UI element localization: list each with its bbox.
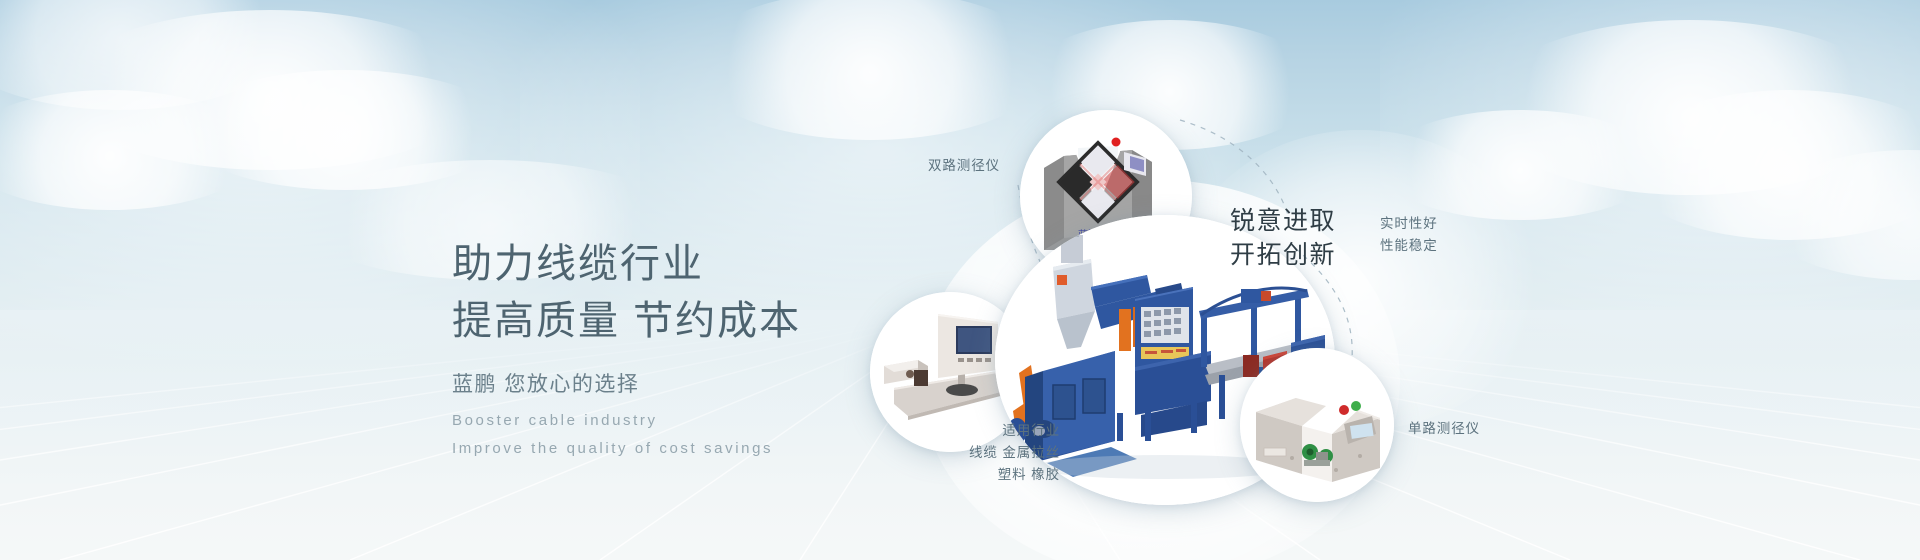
- label-dual-gauge-text: 双路测径仪: [790, 155, 1000, 177]
- bubble-single-gauge[interactable]: [1240, 348, 1394, 502]
- label-dual-gauge: 双路测径仪: [790, 155, 1000, 177]
- feature-line-1: 实时性好: [1380, 213, 1530, 235]
- product-composition: 蓝鹏测控: [880, 0, 1920, 560]
- cloud-1: [60, 10, 480, 170]
- slogan-line-1: 锐意进取: [1188, 205, 1378, 239]
- label-features: 实时性好 性能稳定: [1380, 213, 1530, 257]
- hero-banner: 助力线缆行业 提高质量 节约成本 蓝鹏 您放心的选择 Booster cable…: [0, 0, 1920, 560]
- slogan-block: 锐意进取 开拓创新: [1188, 205, 1378, 273]
- industry-line-3: 塑料 橡胶: [840, 464, 1060, 486]
- headline-line-2: 提高质量 节约成本: [452, 293, 972, 350]
- single-gauge-photo: [1240, 348, 1394, 502]
- hero-copy: 助力线缆行业 提高质量 节约成本 蓝鹏 您放心的选择 Booster cable…: [452, 236, 972, 457]
- slogan-line-2: 开拓创新: [1188, 239, 1378, 273]
- subtitle-chinese: 蓝鹏 您放心的选择: [452, 368, 972, 398]
- label-single-gauge: 单路测径仪: [1408, 418, 1588, 440]
- label-single-gauge-text: 单路测径仪: [1408, 418, 1588, 440]
- cloud-2: [180, 70, 510, 190]
- subtitle-english-2: Improve the quality of cost savings: [452, 440, 972, 457]
- cloud-11: [0, 0, 300, 110]
- subtitle-english-1: Booster cable industry: [452, 412, 972, 429]
- cloud-3: [0, 90, 260, 210]
- feature-line-2: 性能稳定: [1380, 235, 1530, 257]
- headline-line-1: 助力线缆行业: [452, 236, 972, 293]
